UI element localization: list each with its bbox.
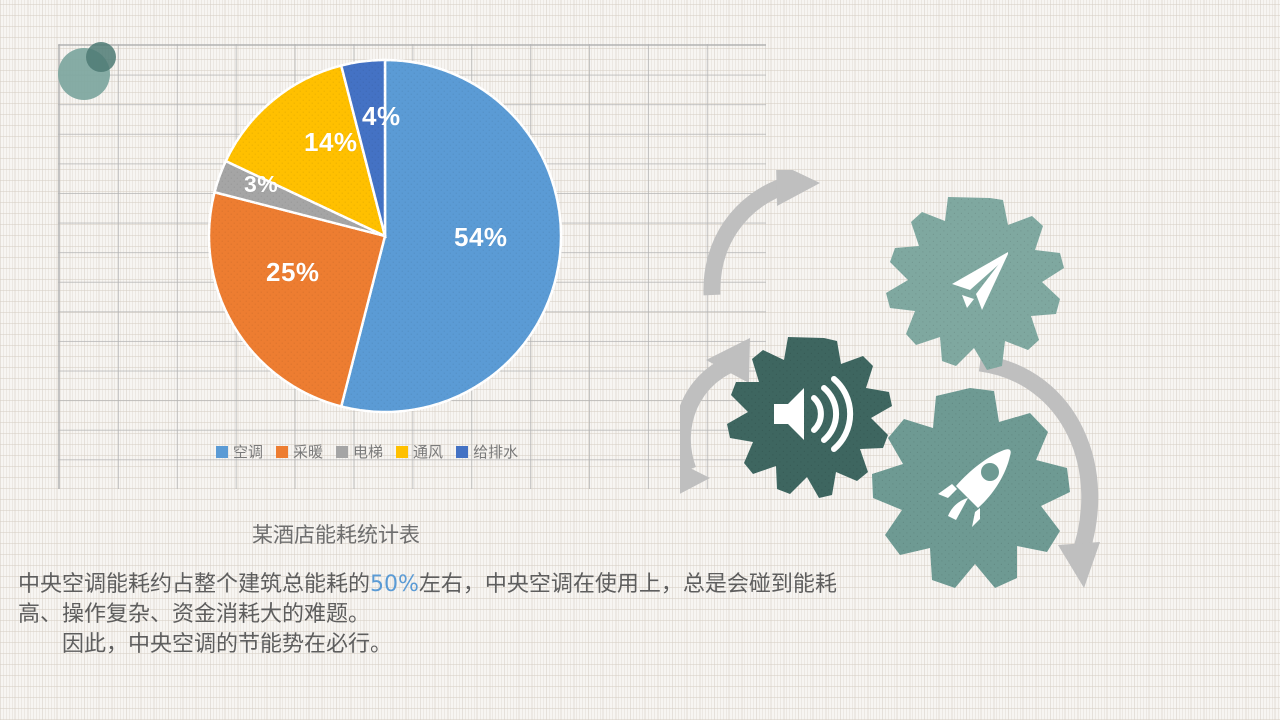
pie-slice-label-0: 54% bbox=[454, 222, 508, 253]
legend-swatch-icon bbox=[336, 446, 348, 458]
gears-svg bbox=[680, 170, 1150, 660]
pie-slice-label-1: 25% bbox=[266, 257, 320, 288]
logo-small-circle bbox=[86, 42, 116, 72]
gear-rocket bbox=[872, 388, 1070, 588]
gear-paper-plane bbox=[886, 197, 1064, 370]
legend-label: 电梯 bbox=[353, 441, 383, 462]
gears-cluster bbox=[680, 170, 1150, 660]
legend-label: 采暖 bbox=[293, 441, 323, 462]
legend-item-通风[interactable]: 通风 bbox=[396, 441, 443, 462]
legend-item-采暖[interactable]: 采暖 bbox=[276, 441, 323, 462]
legend-item-给排水[interactable]: 给排水 bbox=[456, 441, 518, 462]
legend-swatch-icon bbox=[216, 446, 228, 458]
slide-canvas: 54% 25% 3% 14% 4% 空调采暖电梯通风给排水 某酒店能耗统计表 中… bbox=[0, 0, 1280, 720]
legend-item-电梯[interactable]: 电梯 bbox=[336, 441, 383, 462]
pie-slice-label-4: 4% bbox=[362, 101, 401, 132]
chart-caption: 某酒店能耗统计表 bbox=[252, 519, 420, 549]
legend-label: 空调 bbox=[233, 441, 263, 462]
gear-speaker bbox=[727, 337, 892, 498]
legend-swatch-icon bbox=[396, 446, 408, 458]
arrow-up-right-icon bbox=[712, 170, 820, 295]
body-text-part-1: 中央空调能耗约占整个建筑总能耗的 bbox=[18, 572, 370, 597]
pie-slice-label-3: 14% bbox=[304, 127, 358, 158]
circle-logo bbox=[58, 42, 116, 104]
legend-item-空调[interactable]: 空调 bbox=[216, 441, 263, 462]
legend-swatch-icon bbox=[456, 446, 468, 458]
chart-legend[interactable]: 空调采暖电梯通风给排水 bbox=[216, 441, 518, 462]
legend-swatch-icon bbox=[276, 446, 288, 458]
body-text-highlight: 50% bbox=[370, 572, 419, 597]
legend-label: 给排水 bbox=[473, 441, 518, 462]
pie-slice-label-2: 3% bbox=[244, 171, 278, 198]
legend-label: 通风 bbox=[413, 441, 443, 462]
pie-chart[interactable]: 54% 25% 3% 14% 4% bbox=[206, 57, 564, 415]
